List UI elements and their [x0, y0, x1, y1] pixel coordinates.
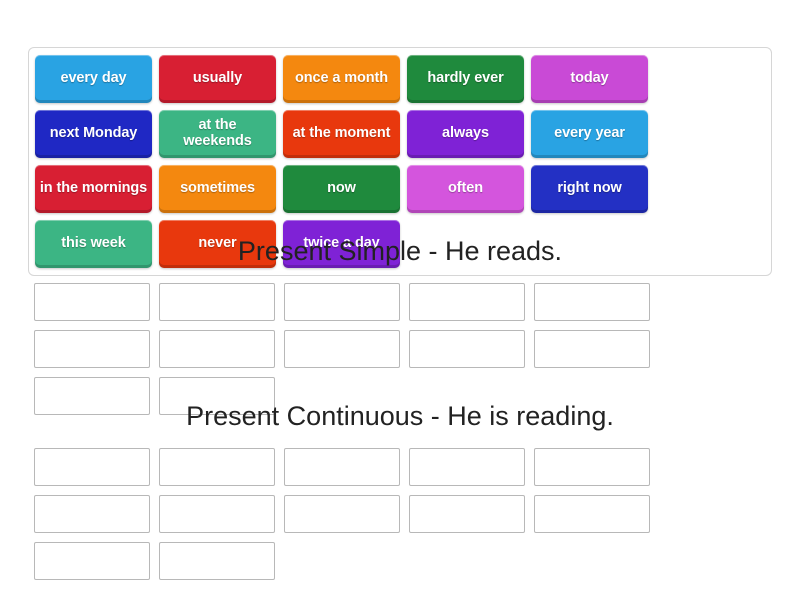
word-tile-label: now: [287, 181, 396, 197]
dropzone-slot[interactable]: [159, 448, 275, 486]
dropzone-slot[interactable]: [159, 283, 275, 321]
word-tile[interactable]: usually: [159, 55, 276, 103]
word-tile-label: right now: [535, 181, 644, 197]
group-title-present-simple: Present Simple - He reads.: [0, 236, 800, 267]
word-tile-label: always: [411, 126, 520, 142]
word-tile[interactable]: every day: [35, 55, 152, 103]
dropzone-slot[interactable]: [284, 448, 400, 486]
word-tile-label: sometimes: [163, 181, 272, 197]
word-tile[interactable]: at the weekends: [159, 110, 276, 158]
word-tile-label: often: [411, 181, 520, 197]
word-tile[interactable]: always: [407, 110, 524, 158]
dropzone-slot[interactable]: [409, 330, 525, 368]
dropzone-slot[interactable]: [159, 542, 275, 580]
activity-canvas: every dayusuallyonce a monthhardly evert…: [0, 0, 800, 600]
dropzone-slot[interactable]: [159, 495, 275, 533]
word-tile-label: every day: [39, 71, 148, 87]
word-tile-label: in the mornings: [39, 181, 148, 197]
dropzone-grid-present-continuous: [34, 448, 767, 580]
dropzone-slot[interactable]: [34, 495, 150, 533]
dropzone-grid-present-simple: [34, 283, 767, 415]
group-title-present-continuous: Present Continuous - He is reading.: [0, 401, 800, 432]
word-tile[interactable]: today: [531, 55, 648, 103]
word-tile[interactable]: every year: [531, 110, 648, 158]
word-tile-label: today: [535, 71, 644, 87]
dropzone-slot[interactable]: [34, 330, 150, 368]
word-tile[interactable]: at the moment: [283, 110, 400, 158]
word-tile[interactable]: hardly ever: [407, 55, 524, 103]
dropzone-slot[interactable]: [534, 283, 650, 321]
word-tile[interactable]: once a month: [283, 55, 400, 103]
word-tile-label: usually: [163, 71, 272, 87]
dropzone-slot[interactable]: [409, 495, 525, 533]
dropzone-slot[interactable]: [34, 283, 150, 321]
dropzone-slot[interactable]: [34, 542, 150, 580]
word-tile[interactable]: right now: [531, 165, 648, 213]
dropzone-slot[interactable]: [284, 495, 400, 533]
word-tile[interactable]: now: [283, 165, 400, 213]
dropzone-slot[interactable]: [409, 448, 525, 486]
word-tile-label: once a month: [287, 71, 396, 87]
word-tile-label: next Monday: [39, 126, 148, 142]
word-tile-label: at the weekends: [163, 118, 272, 149]
dropzone-slot[interactable]: [534, 448, 650, 486]
dropzone-slot[interactable]: [284, 330, 400, 368]
word-tile-label: hardly ever: [411, 71, 520, 87]
dropzone-slot[interactable]: [34, 448, 150, 486]
dropzone-slot[interactable]: [409, 283, 525, 321]
word-tile[interactable]: in the mornings: [35, 165, 152, 213]
word-tile-label: at the moment: [287, 126, 396, 142]
dropzone-slot[interactable]: [534, 495, 650, 533]
dropzone-slot[interactable]: [159, 330, 275, 368]
word-tile[interactable]: often: [407, 165, 524, 213]
word-tile[interactable]: next Monday: [35, 110, 152, 158]
word-tile[interactable]: sometimes: [159, 165, 276, 213]
word-tile-label: every year: [535, 126, 644, 142]
dropzone-slot[interactable]: [534, 330, 650, 368]
dropzone-slot[interactable]: [284, 283, 400, 321]
